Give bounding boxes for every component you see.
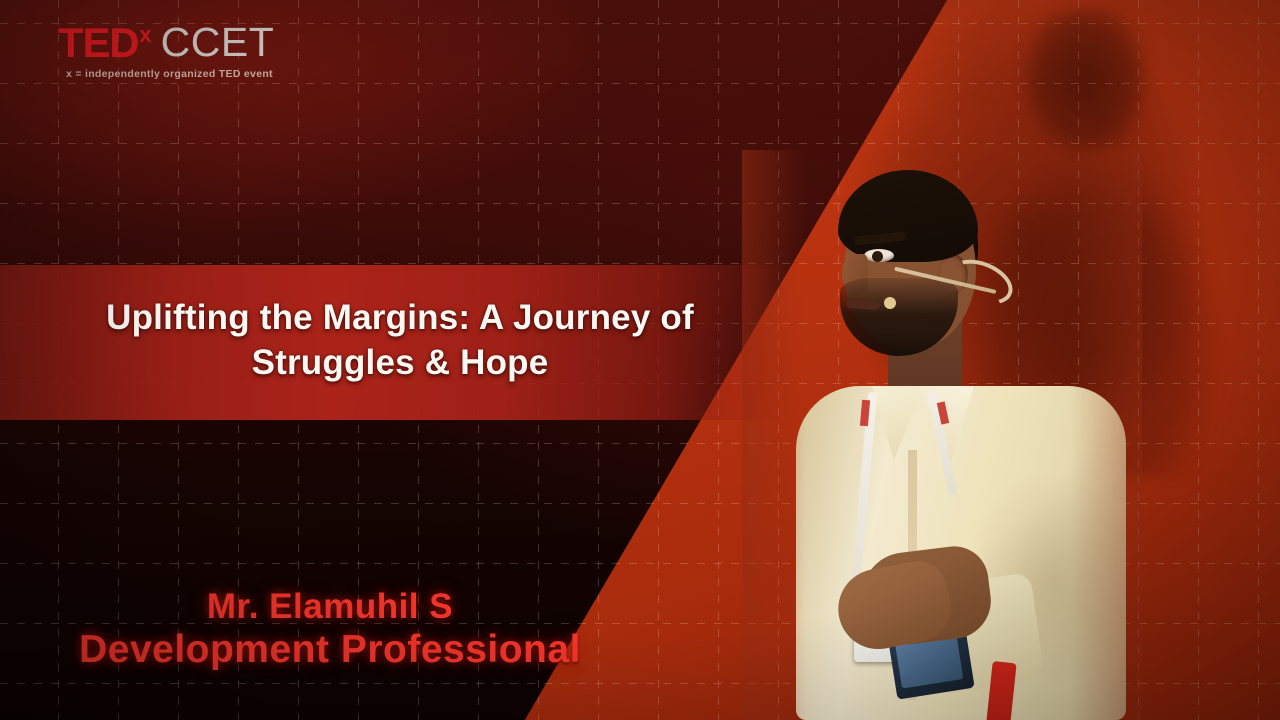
speaker-hair: [838, 170, 978, 262]
logo-org-text: CCET: [161, 22, 275, 63]
grid-line-vertical: [1198, 0, 1199, 720]
grid-line-horizontal: [0, 83, 1280, 84]
grid-line-horizontal: [0, 143, 1280, 144]
logo-x-text: x: [139, 24, 151, 46]
headset-mic-capsule: [884, 297, 896, 309]
speaker-photo: [742, 150, 1142, 720]
speaker-pupil: [872, 251, 883, 262]
talk-title-line-2: Struggles & Hope: [40, 341, 760, 386]
tedx-tagline: x = independently organized TED event: [66, 68, 273, 80]
talk-title: Uplifting the Margins: A Journey of Stru…: [0, 296, 800, 386]
tedx-talk-slide: Uplifting the Margins: A Journey of Stru…: [0, 0, 1280, 720]
logo-ted-text: TED: [58, 22, 138, 64]
tedx-logo: TED x CCET: [58, 22, 274, 64]
speaker-name-block: Mr. Elamuhil S Development Professional: [0, 588, 660, 671]
talk-title-line-1: Uplifting the Margins: A Journey of: [40, 296, 760, 341]
speaker-role: Development Professional: [0, 629, 660, 672]
grid-line-vertical: [1258, 0, 1259, 720]
speaker-name: Mr. Elamuhil S: [0, 588, 660, 627]
